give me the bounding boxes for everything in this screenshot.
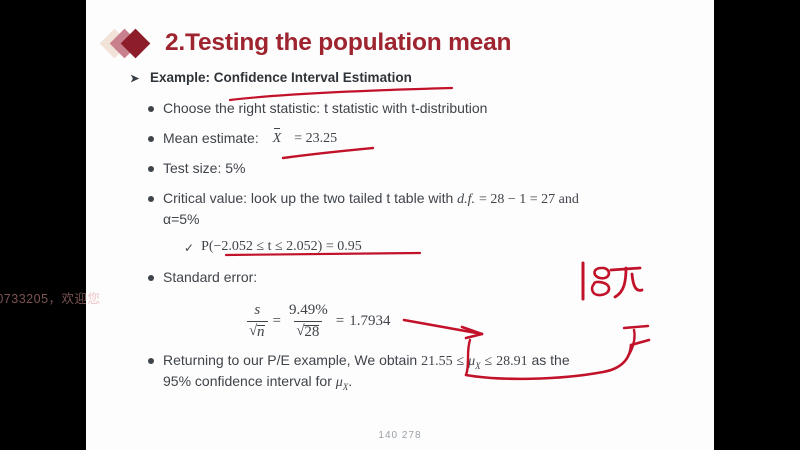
interval-upper-bound: 28.91 bbox=[496, 354, 528, 369]
formula-sd-value: 9.49% bbox=[286, 302, 331, 320]
formula-equals-2: = bbox=[336, 313, 344, 330]
bullet-choose-statistic: Choose the right statistic: t statistic … bbox=[148, 99, 710, 119]
heading-example: ➤ Example: Confidence Interval Estimatio… bbox=[130, 70, 710, 88]
bullet-standard-error-label: Standard error: bbox=[163, 268, 257, 288]
round-bullet-icon bbox=[148, 275, 154, 281]
bullet-critical-value: Critical value: look up the two tailed t… bbox=[148, 189, 710, 230]
x-bar-symbol: X bbox=[273, 129, 282, 149]
round-bullet-icon bbox=[148, 196, 154, 202]
alpha-level-label: α=5% bbox=[163, 211, 200, 227]
formula-sqrt-28: 28 bbox=[294, 321, 322, 341]
bullet-test-size-label: Test size: 5% bbox=[163, 159, 245, 179]
less-equal-1: ≤ bbox=[457, 354, 465, 369]
interval-lower-bound: 21.55 bbox=[421, 354, 453, 369]
round-bullet-icon bbox=[148, 358, 154, 364]
slide-title-row: 2.Testing the population mean bbox=[104, 26, 511, 60]
conclusion-tail: as the bbox=[531, 352, 569, 368]
presentation-slide: 2.Testing the population mean ➤ Example:… bbox=[86, 0, 714, 450]
heading-example-label: Example: Confidence Interval Estimation bbox=[150, 70, 412, 85]
degrees-of-freedom-symbol: d.f. bbox=[457, 192, 475, 207]
page-number: 140 278 bbox=[86, 430, 714, 441]
formula-right-fraction: 9.49% 28 bbox=[286, 302, 331, 341]
formula-result: 1.7934 bbox=[349, 313, 390, 330]
letterbox-right bbox=[714, 0, 800, 450]
round-bullet-icon bbox=[148, 166, 154, 172]
bullet-choose-statistic-label: Choose the right statistic: t statistic … bbox=[163, 99, 487, 119]
bullet-critical-value-label: Critical value: look up the two tailed t… bbox=[163, 189, 579, 230]
round-bullet-icon bbox=[148, 136, 154, 142]
formula-equals-1: = bbox=[273, 313, 281, 330]
arrow-bullet-icon: ➤ bbox=[130, 70, 142, 88]
round-bullet-icon bbox=[148, 106, 154, 112]
video-player-stage: 2.Testing the population mean ➤ Example:… bbox=[0, 0, 800, 450]
letterbox-left bbox=[0, 0, 86, 450]
bullet-conclusion: Returning to our P/E example, We obtain … bbox=[148, 351, 710, 394]
probability-statement: P(−2.052 ≤ t ≤ 2.052) = 0.95 bbox=[201, 239, 362, 255]
mu-subscript: X bbox=[475, 361, 481, 371]
bullet-standard-error: Standard error: bbox=[148, 268, 710, 288]
check-bullet-icon: ✓ bbox=[184, 239, 194, 258]
watermark-text: 8530733205，欢迎您 bbox=[0, 288, 101, 307]
formula-left-fraction: s n bbox=[247, 302, 268, 341]
less-equal-2: ≤ bbox=[485, 354, 493, 369]
bullet-mean-estimate-label: Mean estimate: bbox=[163, 129, 259, 149]
bullet-mean-estimate: Mean estimate: X = 23.25 bbox=[148, 129, 710, 149]
bullet-test-size: Test size: 5% bbox=[148, 159, 710, 179]
standard-error-formula: s n = 9.49% 28 = 1.7934 bbox=[242, 302, 710, 341]
bullet-conclusion-label: Returning to our P/E example, We obtain … bbox=[163, 351, 570, 394]
mean-estimate-value: = 23.25 bbox=[294, 129, 337, 149]
formula-s: s bbox=[251, 302, 263, 320]
slide-body: ➤ Example: Confidence Interval Estimatio… bbox=[130, 70, 710, 404]
page-title: 2.Testing the population mean bbox=[165, 29, 511, 57]
degrees-of-freedom-expression: = 28 − 1 = 27 and bbox=[479, 192, 579, 207]
diamond-cluster-icon bbox=[104, 26, 156, 60]
mu-symbol-2: μ bbox=[336, 375, 343, 390]
conclusion-line2: 95% confidence interval for bbox=[163, 373, 332, 389]
sub-bullet-probability: ✓ P(−2.052 ≤ t ≤ 2.052) = 0.95 bbox=[184, 239, 710, 258]
conclusion-period: . bbox=[348, 373, 352, 389]
formula-sqrt-n: n bbox=[247, 321, 268, 341]
